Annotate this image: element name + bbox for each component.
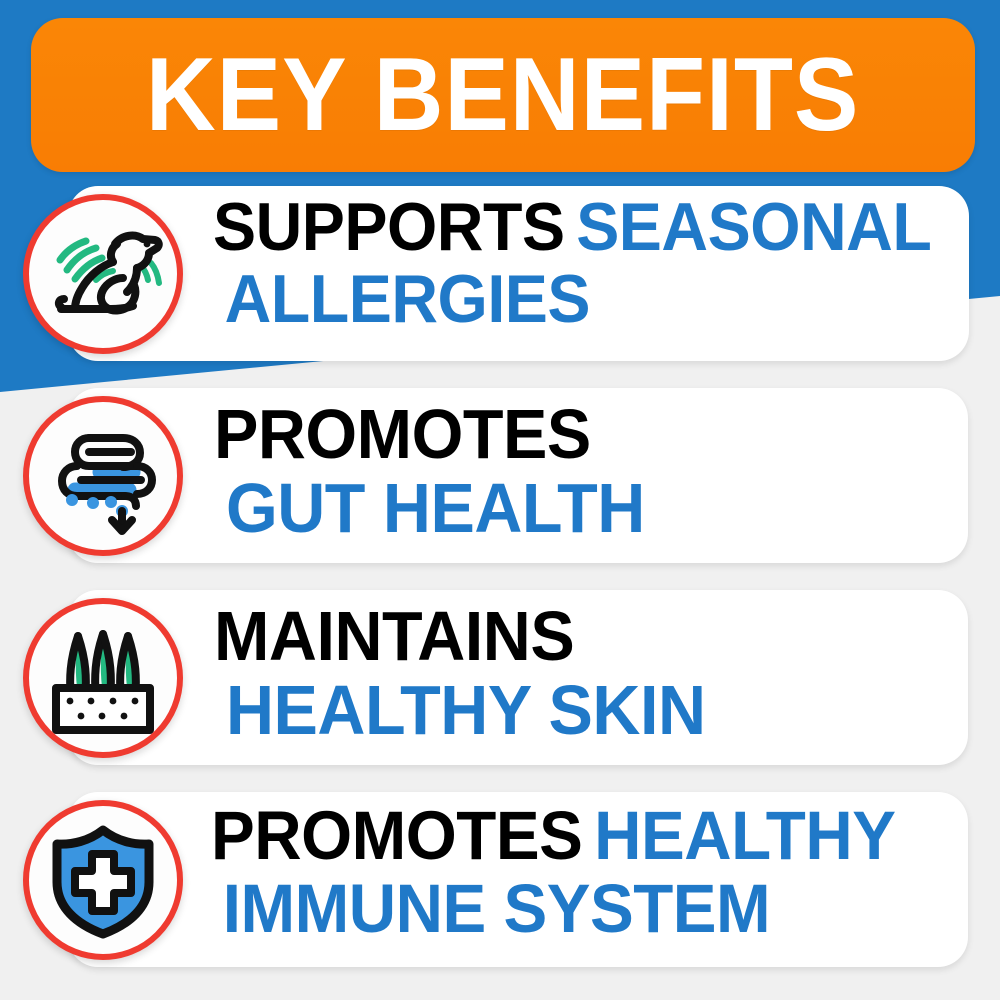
benefit-text: PROMOTES GUT HEALTH: [214, 401, 984, 543]
benefit-line-2: ALLERGIES: [213, 267, 945, 333]
key-benefits-banner: KEY BENEFITS: [31, 18, 975, 172]
benefit-text: PROMOTESHEALTHY IMMUNE SYSTEM: [211, 803, 981, 943]
benefit-line-1-black: PROMOTES: [214, 395, 591, 473]
benefit-line-1: SUPPORTSSEASONAL: [213, 195, 945, 261]
skin-follicles-glyph: [37, 612, 169, 744]
benefit-line-1: PROMOTES: [214, 401, 946, 469]
benefit-line-1-blue: SEASONAL: [576, 189, 931, 265]
benefit-row-healthy-skin: MAINTAINS HEALTHY SKIN: [0, 590, 1000, 765]
benefit-text: SUPPORTSSEASONAL ALLERGIES: [213, 195, 983, 333]
benefit-line-1-black: SUPPORTS: [213, 189, 565, 265]
intestines-icon: [23, 396, 183, 556]
intestines-glyph: [37, 410, 169, 542]
down-arrow-icon: [112, 511, 132, 531]
benefit-line-1-black: PROMOTES: [211, 797, 582, 874]
benefit-row-seasonal-allergies: SUPPORTSSEASONAL ALLERGIES: [0, 186, 1000, 361]
benefit-line-1: MAINTAINS: [214, 603, 946, 671]
shield-cross-glyph: [37, 814, 169, 946]
page-title: KEY BENEFITS: [146, 43, 859, 147]
benefits-list: SUPPORTSSEASONAL ALLERGIES: [0, 186, 1000, 994]
key-benefits-infographic: KEY BENEFITS: [0, 0, 1000, 1000]
benefit-line-2: HEALTHY SKIN: [214, 677, 946, 745]
benefit-line-2-blue: IMMUNE SYSTEM: [223, 870, 770, 947]
skin-follicles-icon: [23, 598, 183, 758]
benefit-row-immune-system: PROMOTESHEALTHY IMMUNE SYSTEM: [0, 792, 1000, 967]
benefit-line-1-blue: HEALTHY: [594, 797, 895, 874]
benefit-line-2: IMMUNE SYSTEM: [211, 876, 943, 943]
benefit-line-1-black: MAINTAINS: [214, 597, 574, 675]
scratching-dog-icon: [23, 194, 183, 354]
dog-eye: [144, 241, 151, 248]
benefit-line-2-blue: HEALTHY SKIN: [226, 671, 706, 749]
benefit-line-2-blue: ALLERGIES: [225, 261, 590, 337]
benefit-line-2-blue: GUT HEALTH: [226, 469, 645, 547]
benefit-line-1: PROMOTESHEALTHY: [211, 803, 943, 870]
benefit-line-2: GUT HEALTH: [214, 475, 946, 543]
skin-block: [56, 688, 150, 730]
scratching-dog-glyph: [37, 208, 169, 340]
benefit-row-gut-health: PROMOTES GUT HEALTH: [0, 388, 1000, 563]
benefit-text: MAINTAINS HEALTHY SKIN: [214, 603, 984, 745]
shield-cross-icon: [23, 800, 183, 960]
